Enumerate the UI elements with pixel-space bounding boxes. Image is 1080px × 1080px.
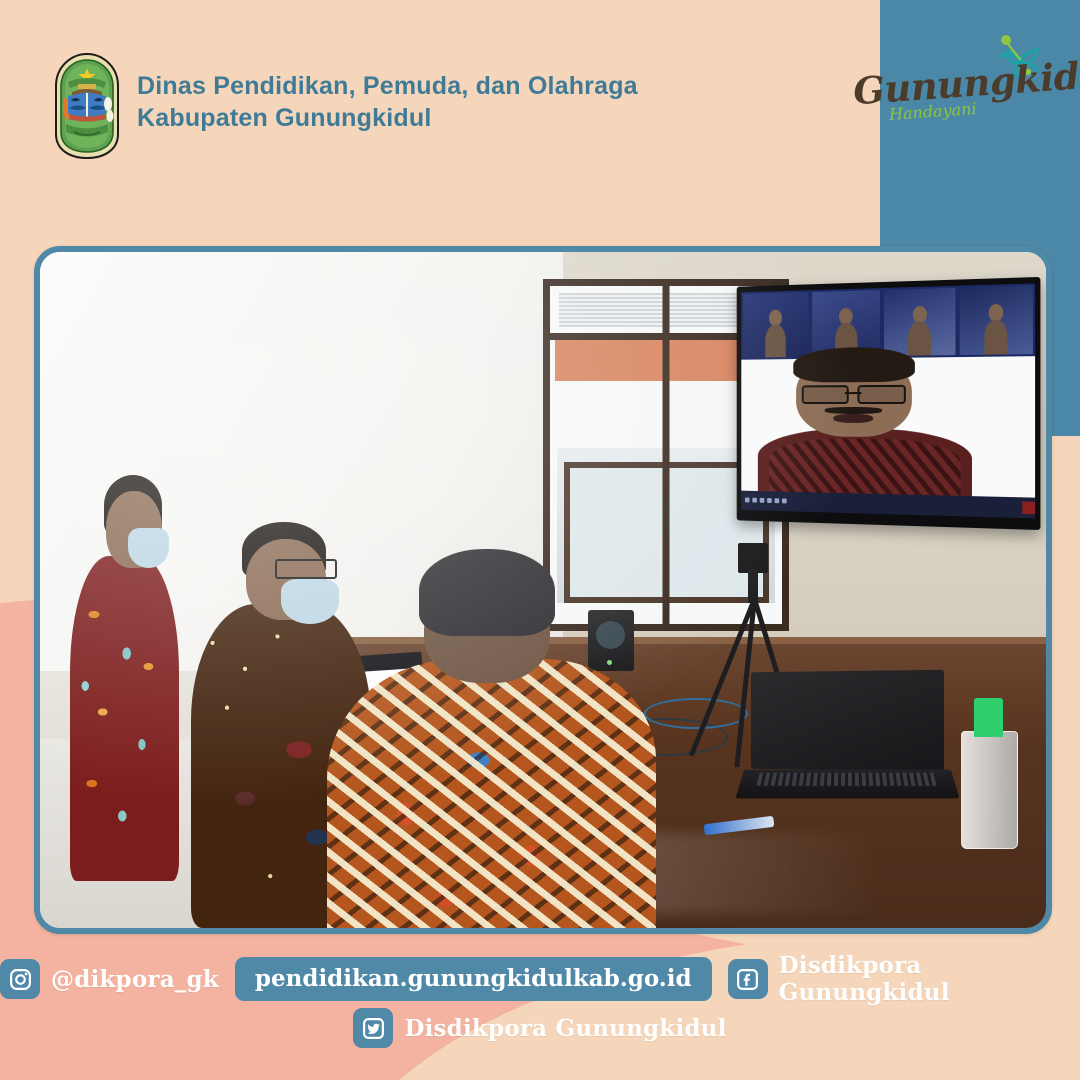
video-call-thumbnail-strip bbox=[741, 284, 1035, 361]
instagram-icon[interactable] bbox=[0, 959, 40, 999]
laptop-screen bbox=[751, 670, 944, 772]
page-title: Dinas Pendidikan, Pemuda, dan Olahraga K… bbox=[137, 70, 697, 134]
person-hair bbox=[419, 549, 554, 635]
person-batik-shirt bbox=[327, 659, 657, 928]
person-batik-shirt bbox=[70, 556, 179, 880]
speaker-glasses-icon bbox=[802, 385, 906, 400]
participant-thumbnail bbox=[959, 286, 1033, 356]
footer-social-bar: @dikpora_gk pendidikan.gunungkidulkab.go… bbox=[0, 940, 1080, 1080]
laptop bbox=[744, 671, 955, 813]
speaker-hair bbox=[794, 347, 915, 383]
gunungkidul-regency-emblem bbox=[44, 52, 130, 160]
facebook-icon[interactable] bbox=[728, 959, 768, 999]
org-title-line1: Dinas Pendidikan, Pemuda, dan Olahraga bbox=[137, 72, 638, 100]
poster-canvas: Dinas Pendidikan, Pemuda, dan Olahraga K… bbox=[0, 0, 1080, 1080]
face-mask bbox=[128, 528, 169, 569]
wall-mounted-tv bbox=[737, 277, 1041, 530]
twitter-icon[interactable] bbox=[353, 1008, 393, 1048]
facebook-page-name: Disdikpora Gunungkidul bbox=[779, 952, 1080, 1006]
twitter-page-name: Disdikpora Gunungkidul bbox=[404, 1015, 726, 1042]
footer-row-primary: @dikpora_gk pendidikan.gunungkidulkab.go… bbox=[0, 952, 1080, 1006]
video-call-main-speaker bbox=[741, 357, 1035, 498]
tv-screen bbox=[741, 284, 1035, 519]
org-title-line2: Kabupaten Gunungkidul bbox=[137, 102, 697, 134]
facebook-item[interactable]: Disdikpora Gunungkidul bbox=[728, 952, 1080, 1006]
eyeglasses-icon bbox=[275, 559, 337, 579]
leave-call-button[interactable] bbox=[1022, 502, 1035, 515]
photo-scene bbox=[40, 252, 1046, 928]
twitter-item[interactable]: Disdikpora Gunungkidul bbox=[353, 1008, 726, 1048]
seated-person-foreground bbox=[352, 549, 775, 928]
footer-row-secondary: Disdikpora Gunungkidul bbox=[0, 1008, 1080, 1048]
gunungkidul-brand-logo: Gunungkidul Handayani bbox=[845, 26, 1060, 132]
participant-thumbnail bbox=[743, 292, 809, 358]
instagram-handle: @dikpora_gk bbox=[51, 966, 219, 993]
hand-sanitizer-bottle bbox=[961, 698, 1016, 847]
header: Dinas Pendidikan, Pemuda, dan Olahraga K… bbox=[0, 0, 1080, 200]
participant-thumbnail bbox=[884, 288, 955, 356]
website-url-badge[interactable]: pendidikan.gunungkidulkab.go.id bbox=[235, 957, 712, 1001]
meeting-photo bbox=[34, 246, 1052, 934]
instagram-item[interactable]: @dikpora_gk bbox=[0, 959, 219, 999]
speaker-shirt-pattern bbox=[769, 439, 961, 496]
face-mask bbox=[281, 579, 339, 624]
